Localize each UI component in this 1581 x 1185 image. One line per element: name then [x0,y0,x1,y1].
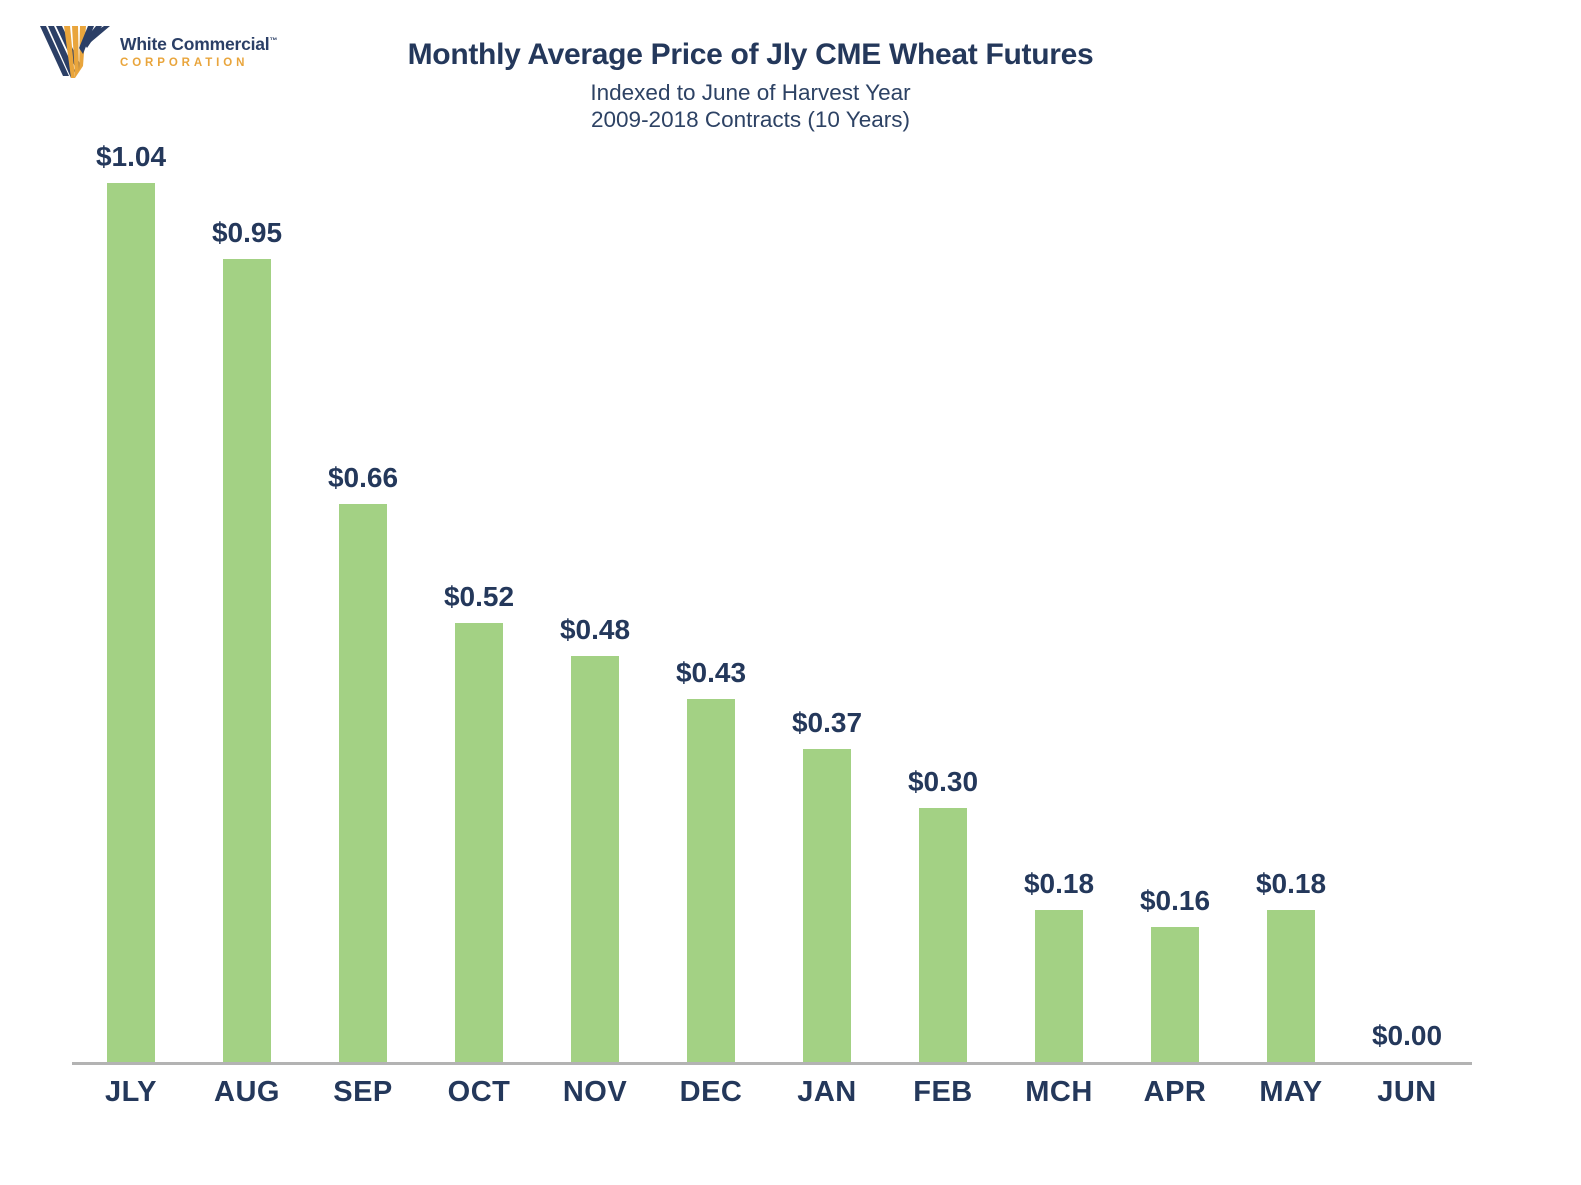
bar[interactable] [1035,910,1083,1062]
bar-slot: $0.43 [653,130,769,1062]
x-axis-tick-feb: FEB [885,1078,1001,1107]
logo-company-name: White Commercial™ [120,35,277,53]
x-axis-labels: JLYAUGSEPOCTNOVDECJANFEBMCHAPRMAYJUN [72,1078,1472,1126]
bar-value-label: $0.66 [328,464,398,492]
trademark-symbol: ™ [269,36,277,45]
x-axis-tick-apr: APR [1117,1078,1233,1107]
x-axis-tick-jun: JUN [1349,1078,1465,1107]
bar-slot: $0.48 [537,130,653,1062]
x-axis-tick-sep: SEP [305,1078,421,1107]
logo-corporation-text: CORPORATION [120,55,277,71]
bar-slot: $0.52 [421,130,537,1062]
bar-slot: $0.66 [305,130,421,1062]
bar-value-label: $0.37 [792,709,862,737]
bar[interactable] [223,259,271,1062]
bar[interactable] [687,699,735,1062]
bar-value-label: $0.52 [444,583,514,611]
x-axis-tick-aug: AUG [189,1078,305,1107]
bar-value-label: $1.04 [96,143,166,171]
bar-value-label: $0.95 [212,219,282,247]
bar-slot: $0.18 [1233,130,1349,1062]
bar[interactable] [1267,910,1315,1062]
logo-wordmark: White Commercial™ CORPORATION [120,33,277,71]
x-axis-tick-mch: MCH [1001,1078,1117,1107]
bar[interactable] [919,808,967,1062]
bar[interactable] [339,504,387,1062]
bar[interactable] [803,749,851,1062]
bar-slot: $0.95 [189,130,305,1062]
bar-slot: $1.04 [73,130,189,1062]
bar-value-label: $0.30 [908,768,978,796]
bar-value-label: $0.18 [1256,870,1326,898]
company-logo: White Commercial™ CORPORATION [38,24,277,80]
white-commercial-w-mark-icon [38,24,110,80]
bar-value-label: $0.00 [1372,1022,1442,1050]
bar[interactable] [107,183,155,1062]
bar[interactable] [571,656,619,1062]
bar[interactable] [455,623,503,1062]
chart-subtitle-primary: Indexed to June of Harvest Year [0,79,1581,106]
x-axis-tick-may: MAY [1233,1078,1349,1107]
x-axis-tick-oct: OCT [421,1078,537,1107]
x-axis-tick-jan: JAN [769,1078,885,1107]
x-axis-tick-jly: JLY [73,1078,189,1107]
bar-slot: $0.30 [885,130,1001,1062]
bar-value-label: $0.48 [560,616,630,644]
logo-company-name-text: White Commercial [120,34,269,54]
x-axis-tick-nov: NOV [537,1078,653,1107]
bar-slot: $0.00 [1349,130,1465,1062]
bar-slot: $0.16 [1117,130,1233,1062]
bar-slot: $0.18 [1001,130,1117,1062]
x-axis-line [72,1062,1472,1065]
bar-slot: $0.37 [769,130,885,1062]
x-axis-tick-dec: DEC [653,1078,769,1107]
bar-value-label: $0.16 [1140,887,1210,915]
bar-value-label: $0.43 [676,659,746,687]
chart-plot-area: $1.04$0.95$0.66$0.52$0.48$0.43$0.37$0.30… [72,130,1472,1065]
bar[interactable] [1151,927,1199,1062]
bar-value-label: $0.18 [1024,870,1094,898]
